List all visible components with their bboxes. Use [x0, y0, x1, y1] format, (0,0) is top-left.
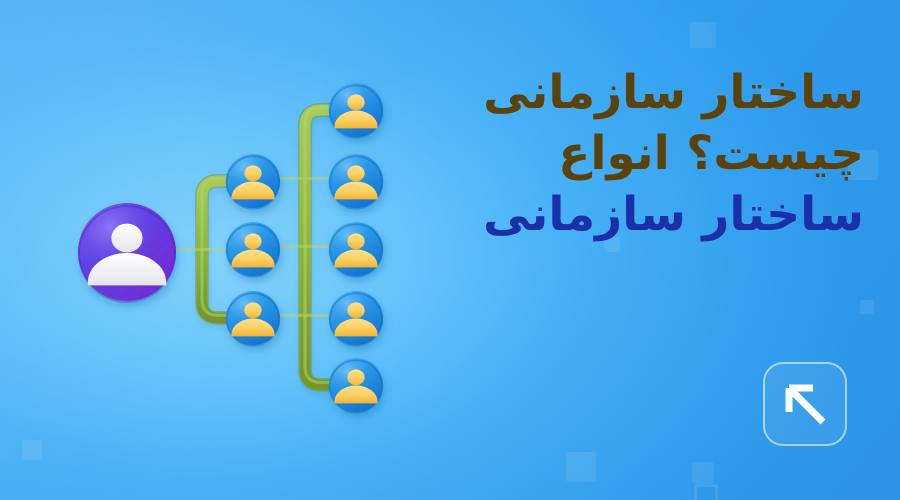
org-node-r4-head-icon	[347, 302, 364, 318]
org-node-r4[interactable]	[329, 291, 383, 346]
background-square-8	[694, 484, 718, 500]
background-square-5	[860, 300, 874, 314]
org-node-r1-head-icon	[347, 94, 364, 110]
org-node-m2-head-icon	[244, 233, 261, 249]
org-node-r3-head-icon	[347, 233, 364, 249]
arrow-up-left-icon	[765, 364, 845, 444]
org-node-r2[interactable]	[329, 154, 383, 209]
headline-line-3: ساختار سازمانی	[444, 184, 864, 245]
org-node-r1[interactable]	[329, 83, 383, 138]
org-node-root-head-icon	[111, 224, 142, 253]
background-square-1	[690, 22, 716, 48]
org-node-m2[interactable]	[226, 222, 280, 277]
org-node-r2-head-icon	[347, 165, 364, 181]
headline-block: ساختار سازمانی چیست؟ انواع ساختار سازمان…	[444, 62, 864, 245]
org-node-r5-head-icon	[347, 369, 364, 385]
org-node-r3[interactable]	[329, 222, 383, 277]
expand-arrow-button[interactable]	[763, 362, 847, 446]
org-chart-illustration	[0, 0, 470, 500]
org-node-m1-head-icon	[244, 165, 261, 181]
org-node-m1[interactable]	[226, 154, 280, 209]
org-chart-nodes	[78, 83, 383, 413]
headline-line-2: چیست؟ انواع	[444, 123, 864, 184]
org-node-m3-head-icon	[244, 302, 261, 318]
org-node-root[interactable]	[78, 203, 176, 302]
org-node-r5[interactable]	[329, 358, 383, 413]
org-chart-svg	[0, 0, 470, 500]
background-square-7	[692, 462, 714, 484]
background-square-6	[566, 452, 596, 482]
banner-canvas: ساختار سازمانی چیست؟ انواع ساختار سازمان…	[0, 0, 900, 500]
org-node-m3[interactable]	[226, 291, 280, 346]
headline-line-1: ساختار سازمانی	[444, 62, 864, 123]
